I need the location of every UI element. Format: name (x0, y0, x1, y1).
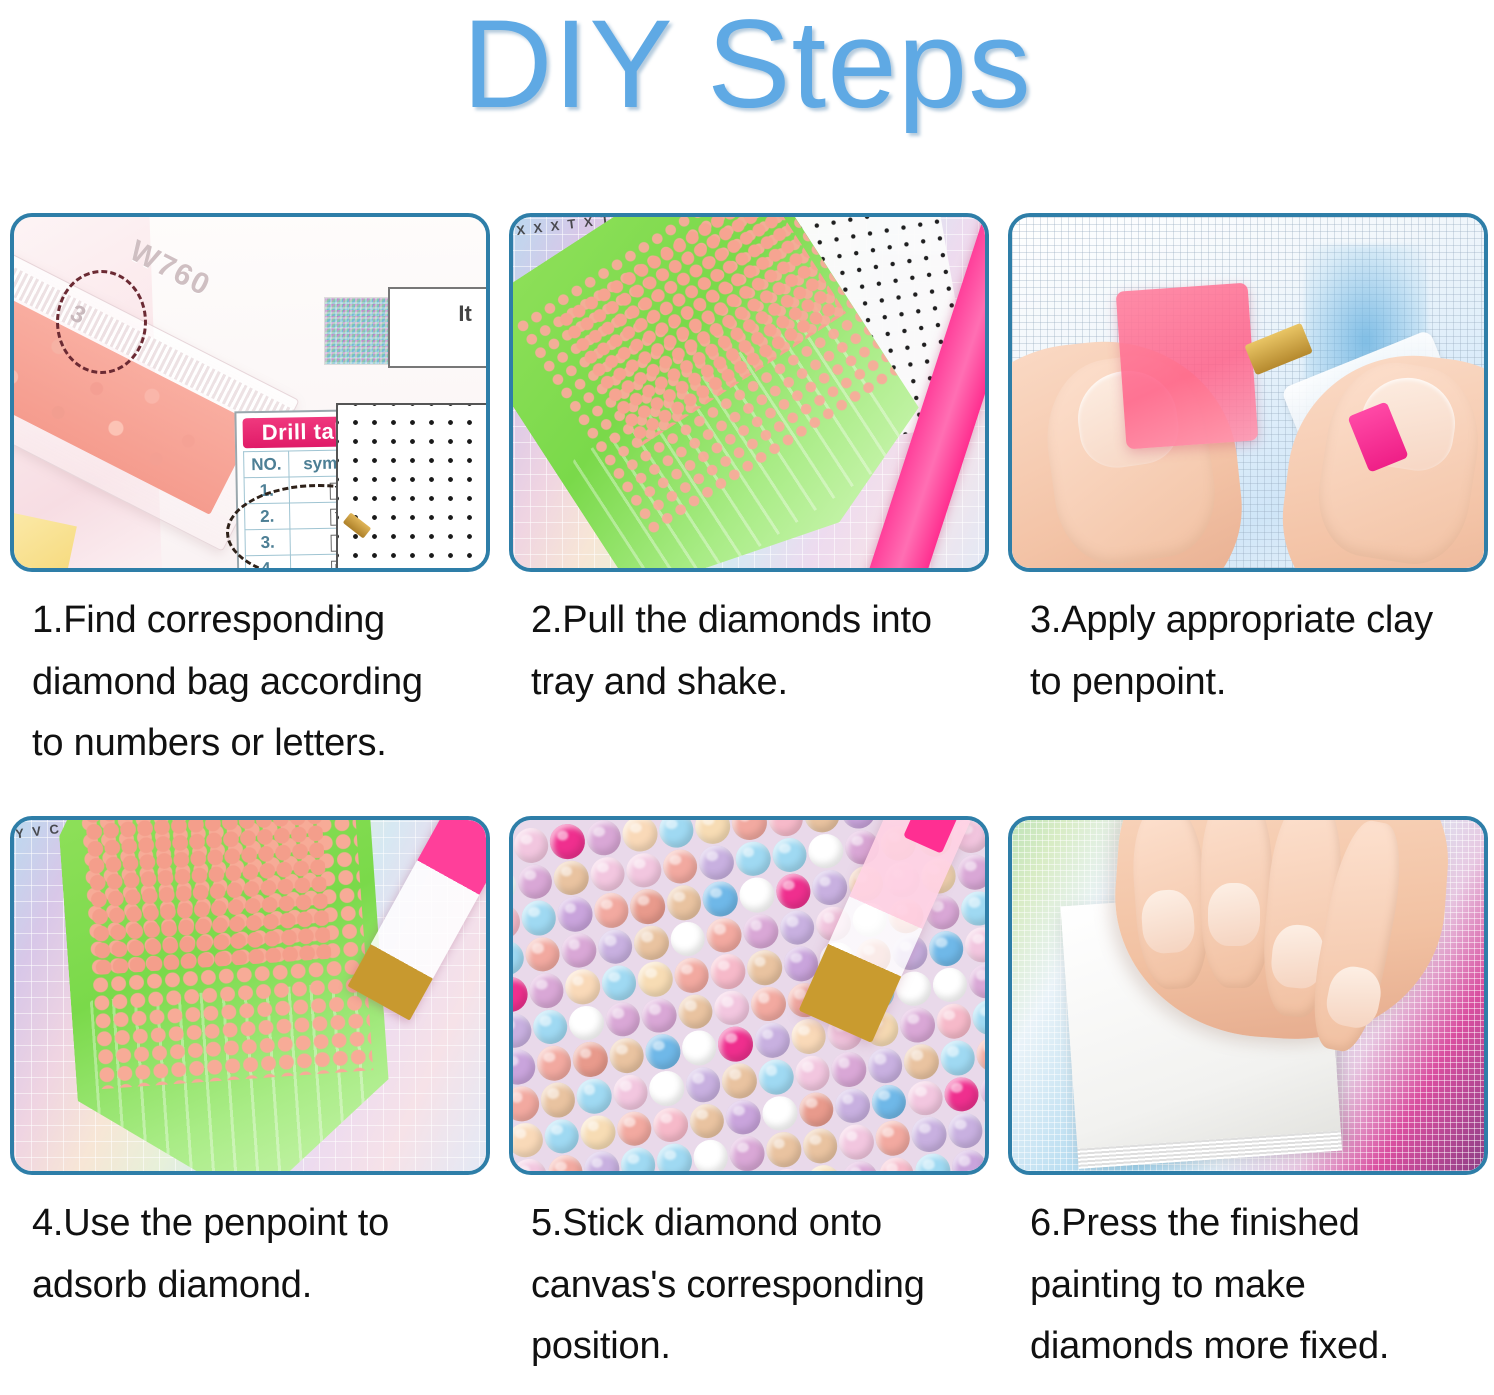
step-card-2: XAAXXXTXTTTYTYTTCTTCFCTTCCVLLLTLLLLCTVLV… (509, 213, 989, 790)
diamond-gem (870, 1083, 908, 1121)
diamond-gem (585, 820, 623, 857)
diamond-gem (761, 1094, 799, 1132)
step-photo-frame-5 (509, 816, 989, 1175)
diamond-gem (906, 1079, 944, 1117)
diamond-gem (644, 1033, 682, 1071)
page-title: DIY Steps (0, 0, 1494, 127)
diamond-gem (513, 1157, 548, 1171)
diamond-gem (579, 1113, 617, 1151)
diamond-gem (971, 999, 985, 1037)
diamond-gem (910, 1115, 948, 1153)
diamond-gem (899, 1006, 937, 1044)
diamond-gem (746, 949, 784, 987)
diamond-gem (702, 880, 740, 918)
diamond-gem (724, 1098, 762, 1136)
diamond-gem (560, 931, 598, 969)
diamond-gem (513, 903, 521, 941)
step-caption-6: 6.Press the finished painting to make di… (1008, 1175, 1488, 1378)
diamond-gem (612, 1073, 650, 1111)
step-caption-5: 5.Stick diamond onto canvas's correspond… (509, 1175, 989, 1378)
diamond-gem (950, 1148, 985, 1171)
diamond-gem (520, 899, 558, 937)
step-photo-frame-3 (1008, 213, 1488, 572)
diamond-gem (619, 1146, 657, 1171)
diamond-gem (568, 1004, 606, 1042)
diamond-gem (571, 1041, 609, 1079)
diamond-gem (673, 956, 711, 994)
diamond-gem (757, 1058, 795, 1096)
step-photo-5 (513, 820, 985, 1171)
diamond-gem (768, 1167, 806, 1171)
diamond-gem (956, 853, 985, 891)
diamond-gem (793, 1054, 831, 1092)
diamond-gem (983, 1108, 985, 1146)
diamond-gem (658, 820, 696, 849)
diamond-gem (797, 1090, 835, 1128)
diamond-gem (790, 1018, 828, 1056)
diamond-gem (546, 1153, 584, 1171)
diamond-gem (535, 1044, 573, 1082)
diamond-gem (749, 985, 787, 1023)
diamond-gem (524, 935, 562, 973)
diamond-gem (931, 966, 969, 1004)
finger-index-nail (1140, 888, 1196, 955)
diamond-gem (583, 1150, 621, 1171)
diamond-gem (539, 1081, 577, 1119)
diamond-gem (765, 1131, 803, 1169)
instruction-box-text: It (458, 301, 471, 327)
diamond-gem (575, 1077, 613, 1115)
diamond-gem (513, 1085, 540, 1123)
diamond-gem (866, 1046, 904, 1084)
diamond-gem (902, 1043, 940, 1081)
diamond-gem (742, 912, 780, 950)
diamond-gem (636, 960, 674, 998)
diamond-gem (721, 1062, 759, 1100)
finger-middle-nail (1208, 883, 1260, 946)
step-caption-2: 2.Pull the diamonds into tray and shake. (509, 572, 989, 790)
diamond-gem (698, 843, 736, 881)
step-card-1: 3 W760 It Drill table NO. symbols 1. Y (10, 213, 490, 790)
diamond-gem (513, 866, 518, 904)
diamond-gem (694, 820, 732, 845)
diamond-gem (878, 1155, 916, 1171)
diamond-gem (640, 997, 678, 1035)
step-caption-3: 3.Apply appropriate clay to penpoint. (1008, 572, 1488, 790)
diamond-gem (734, 840, 772, 878)
diamond-gem (513, 939, 525, 977)
diamond-gem (684, 1065, 722, 1103)
step-photo-frame-1: 3 W760 It Drill table NO. symbols 1. Y (10, 213, 490, 572)
diamond-gem (979, 1071, 985, 1109)
diamond-gem (728, 1134, 766, 1171)
diamond-gem (543, 1117, 581, 1155)
diy-steps-grid: 3 W760 It Drill table NO. symbols 1. Y (10, 213, 1488, 1378)
diamond-gem (513, 975, 529, 1013)
step-card-4: VAAYVCJLLCFCLVTTVLLVVLLCCVVCLLCCVLTLVXLJ… (10, 816, 490, 1378)
diamond-gem (527, 972, 565, 1010)
diamond-gem (669, 920, 707, 958)
diamond-gem (811, 868, 849, 906)
diamond-gem (841, 1159, 879, 1171)
diamond-gem (717, 1025, 755, 1063)
diamond-gem (592, 891, 630, 929)
diamond-gem (615, 1109, 653, 1147)
step-photo-2: XAAXXXTXTTTYTYTTCTTCFCTTCCVLLLTLLLLCTVLV… (513, 217, 985, 568)
diamond-gem (680, 1029, 718, 1067)
diamond-gem (839, 820, 877, 830)
diamond-gem (531, 1008, 569, 1046)
diamond-gem (633, 924, 671, 962)
diamond-gem (589, 855, 627, 893)
diamond-gem (516, 863, 554, 901)
diamond-gem (935, 1002, 973, 1040)
diamond-gem (629, 887, 667, 925)
diamond-gem (960, 889, 985, 927)
diamond-gem (753, 1021, 791, 1059)
step-photo-frame-6 (1008, 816, 1488, 1175)
diamond-gem (552, 859, 590, 897)
diamond-gem (927, 930, 965, 968)
diamond-gem (648, 1069, 686, 1107)
diamond-gem (513, 1012, 533, 1050)
diamond-gem (914, 1152, 952, 1171)
step-caption-4: 4.Use the penpoint to adsorb diamond. (10, 1175, 490, 1316)
diamond-gem (943, 1075, 981, 1113)
diamond-gem (564, 968, 602, 1006)
diamond-gem (834, 1087, 872, 1125)
diamond-gem (688, 1102, 726, 1140)
diamond-gem (807, 832, 845, 870)
diamond-gem (964, 926, 985, 964)
step-card-6: 6.Press the finished painting to make di… (1008, 816, 1488, 1378)
diamond-gem (774, 872, 812, 910)
diamond-gem (705, 916, 743, 954)
dot-pattern-paper (336, 403, 486, 568)
step-photo-frame-2: XAAXXXTXTTTYTYTTCTTCFCTTCCVLLLTLLLLCTVLV… (509, 213, 989, 572)
diamonds-pile (84, 820, 331, 975)
diamond-gem (677, 993, 715, 1031)
step-photo-6 (1012, 820, 1484, 1171)
diamond-gem (608, 1037, 646, 1075)
diamond-gem (621, 820, 659, 853)
diamond-gem (946, 1111, 984, 1149)
diamond-gem (805, 1163, 843, 1171)
step-card-5: 5.Stick diamond onto canvas's correspond… (509, 816, 989, 1378)
diamond-gem (874, 1119, 912, 1157)
yellow-paper-corner (14, 513, 76, 568)
drill-col-no: NO. (243, 451, 289, 478)
diamond-gem (713, 989, 751, 1027)
step-photo-1: 3 W760 It Drill table NO. symbols 1. Y (14, 217, 486, 568)
diamond-gem (968, 962, 985, 1000)
step-photo-frame-4: VAAYVCJLLCFCLVTTVLLVVLLCCVVCLLCCVLTLVXLJ… (10, 816, 490, 1175)
pink-clay-block (1115, 283, 1258, 450)
diamond-gem (556, 895, 594, 933)
diamond-gem (513, 1121, 544, 1159)
diamond-gem (975, 1035, 985, 1073)
diamond-gem (652, 1106, 690, 1144)
diamond-gem (513, 1048, 537, 1086)
step-photo-4: VAAYVCJLLCFCLVTTVLLVVLLCCVVCLLCCVLTLVXLJ… (14, 820, 486, 1171)
diamond-gem (767, 820, 805, 837)
diamond-gem (709, 953, 747, 991)
diamond-gem (803, 820, 841, 834)
diamond-gem (738, 876, 776, 914)
diamond-gem (801, 1127, 839, 1165)
diamond-gem (600, 964, 638, 1002)
diamond-gem (625, 851, 663, 889)
diamond-gem (656, 1142, 694, 1171)
diamond-gem (513, 826, 550, 864)
diamond-gem (548, 822, 586, 860)
step-caption-1: 1.Find corresponding diamond bag accordi… (10, 572, 490, 790)
diamond-gem (596, 928, 634, 966)
diamond-gem (778, 909, 816, 947)
diamond-gem (604, 1000, 642, 1038)
diamond-gem (665, 884, 703, 922)
diamond-gem (830, 1050, 868, 1088)
step-photo-3 (1012, 217, 1484, 568)
diamond-gem (770, 836, 808, 874)
diamond-gem (692, 1138, 730, 1171)
diamond-gem (730, 820, 768, 841)
diamond-gem (661, 847, 699, 885)
diamond-gem (837, 1123, 875, 1161)
instruction-box (388, 287, 486, 368)
step-card-3: 3.Apply appropriate clay to penpoint. (1008, 213, 1488, 790)
diamond-gem (939, 1039, 977, 1077)
